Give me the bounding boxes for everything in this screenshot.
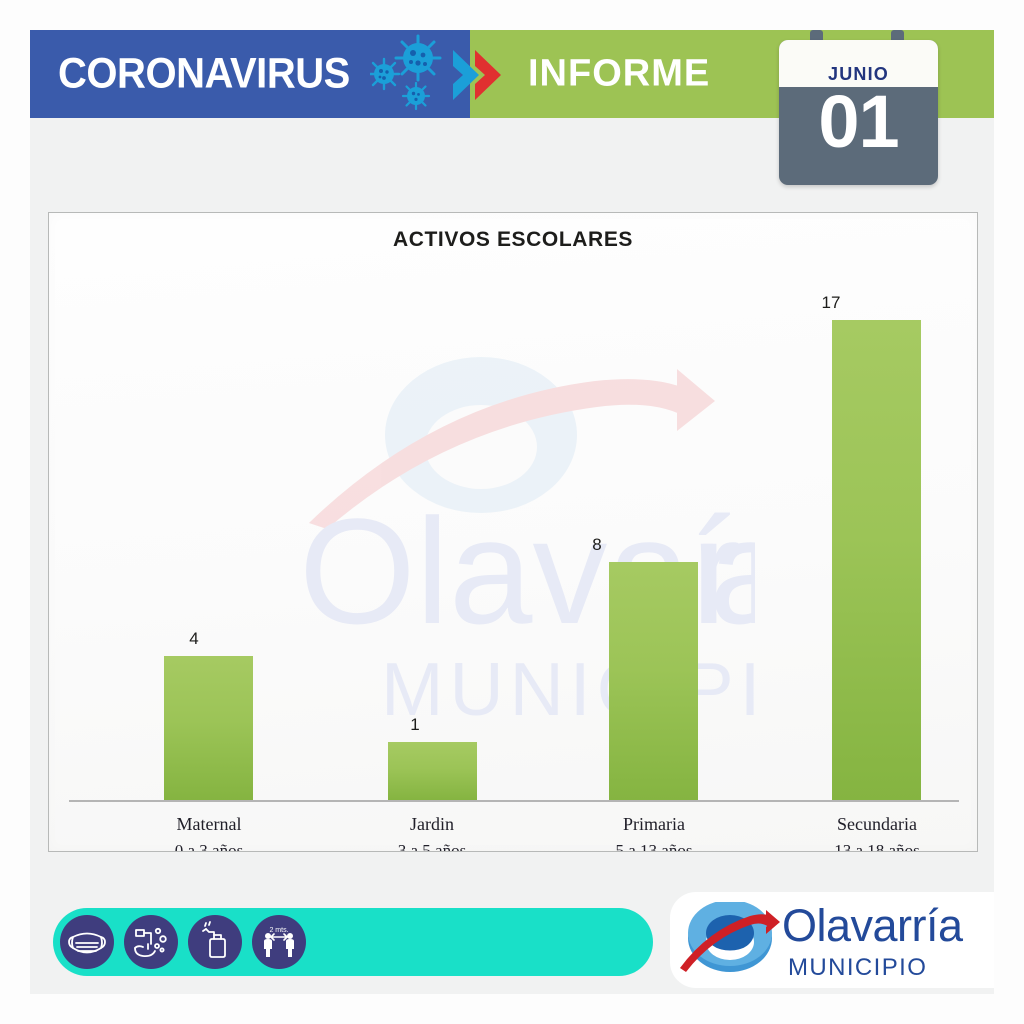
category-label-secundaria: Secundaria 13 a 18 años: [799, 811, 955, 852]
category-name: Maternal: [177, 814, 242, 834]
category-sublabel: 5 a 13 años: [576, 838, 732, 852]
olavarria-logo: Olavarría MUNICIPIO: [670, 892, 994, 988]
plot-area: 4 1 8 17 Maternal 0 a 3 años Jardin 3 a …: [49, 213, 977, 851]
bar-jardin: [388, 742, 477, 800]
calendar-date-badge: JUNIO 01: [779, 30, 938, 185]
bar-primaria: [609, 562, 698, 800]
bar-value-label: 4: [119, 629, 269, 649]
footer: 2 mts.: [30, 888, 994, 994]
bar-value-label: 17: [756, 293, 906, 313]
sanitizer-spray-icon: [188, 915, 242, 969]
handwashing-icon: [124, 915, 178, 969]
bar-value-label: 1: [340, 715, 490, 735]
social-distancing-icon: 2 mts.: [252, 915, 306, 969]
report-card: CORONAVIRUS: [30, 30, 994, 994]
olavarria-emblem-icon: [678, 902, 782, 982]
calendar-body: JUNIO 01: [779, 40, 938, 185]
double-chevron-icon: [445, 46, 520, 104]
bar-maternal: [164, 656, 253, 800]
category-sublabel: 13 a 18 años: [799, 838, 955, 852]
x-axis-line: [69, 800, 959, 802]
calendar-day: 01: [779, 85, 938, 159]
logo-subtitle: MUNICIPIO: [788, 954, 927, 982]
category-label-primaria: Primaria 5 a 13 años: [576, 811, 732, 852]
page-title: CORONAVIRUS: [58, 50, 350, 99]
header-subtitle: INFORME: [528, 53, 710, 96]
category-sublabel: 3 a 5 años: [354, 838, 510, 852]
header-banner: CORONAVIRUS: [30, 30, 994, 118]
bar-value-label: 8: [522, 535, 672, 555]
category-name: Primaria: [623, 814, 685, 834]
chart-panel: ACTIVOS ESCOLARES Olavarr í a: [48, 212, 978, 852]
category-label-jardin: Jardin 3 a 5 años: [354, 811, 510, 852]
svg-text:2 mts.: 2 mts.: [269, 927, 288, 934]
category-name: Jardin: [410, 814, 454, 834]
logo-wordmark: Olavarría: [782, 903, 963, 948]
category-sublabel: 0 a 3 años: [131, 838, 287, 852]
coronavirus-report-poster: CORONAVIRUS: [0, 0, 1024, 1024]
category-name: Secundaria: [837, 814, 917, 834]
face-mask-icon: [60, 915, 114, 969]
prevention-measures-bar: 2 mts.: [53, 908, 653, 976]
bar-secundaria: [832, 320, 921, 800]
category-label-maternal: Maternal 0 a 3 años: [131, 811, 287, 852]
